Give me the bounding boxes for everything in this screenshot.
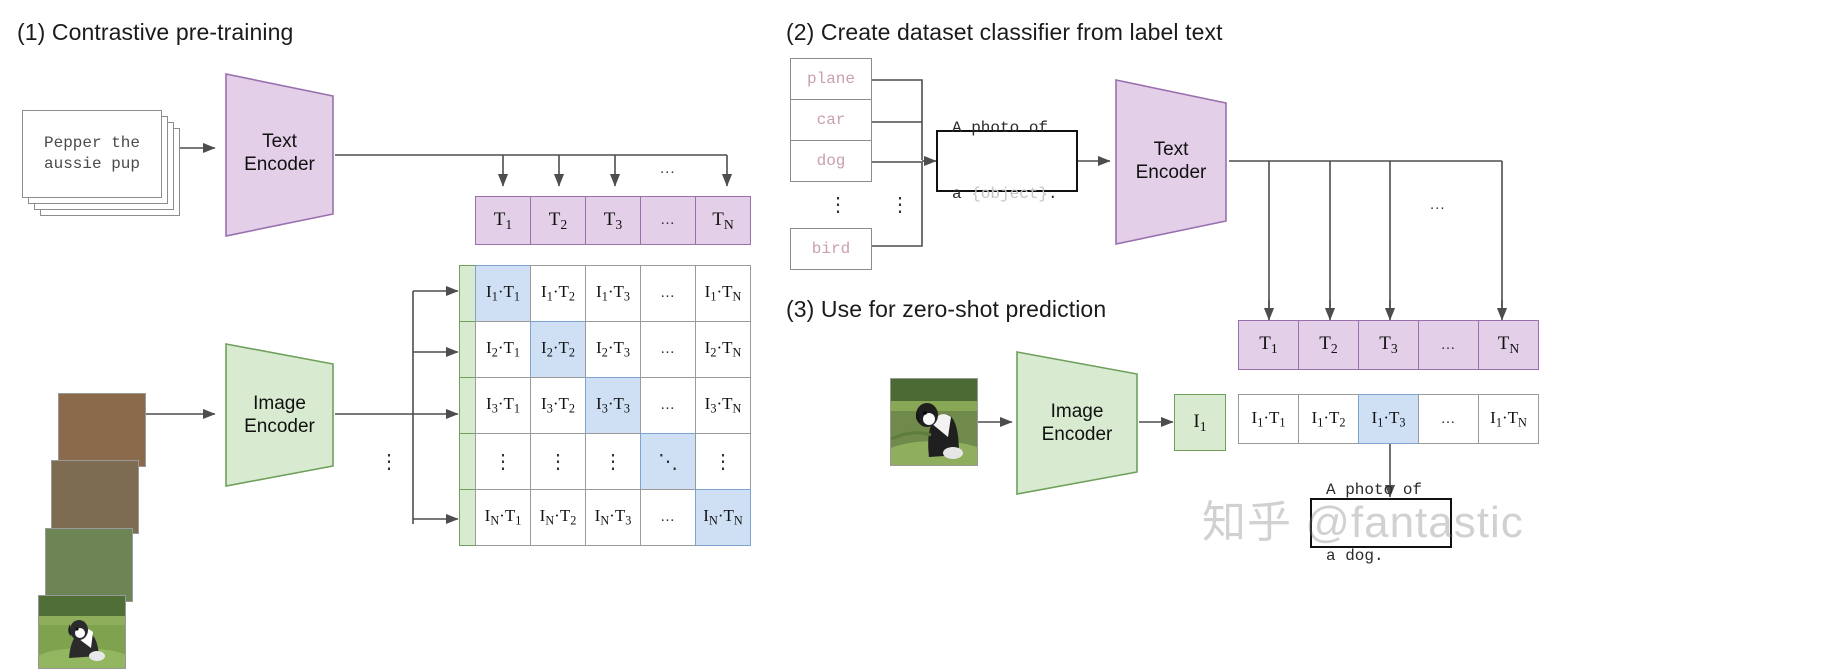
matrix-row: I3·T1 I3·T2 I3·T3 ... I3·TN: [475, 377, 751, 434]
label-vdots-right: ⋮: [890, 195, 910, 215]
matrix-cell: IN·T2: [530, 489, 586, 546]
image-embedding-p3: I1: [1174, 394, 1226, 451]
image-thumb-front: [38, 595, 126, 669]
text-embedding-cell: T3: [1358, 320, 1419, 370]
image-thumb-shadow-3: [58, 393, 146, 467]
label-box-dog[interactable]: dog: [790, 140, 872, 182]
text-embedding-cell: T1: [1238, 320, 1299, 370]
matrix-row: I2·T1 I2·T2 I2·T3 ... I2·TN: [475, 321, 751, 378]
matrix-cell: IN·T3: [585, 489, 641, 546]
t3-label: T3: [604, 209, 622, 233]
text-embedding-cell: T2: [530, 196, 586, 245]
text-embedding-cell: T2: [1298, 320, 1359, 370]
matrix-row: IN·T1 IN·T2 IN·T3 ... IN·TN: [475, 489, 751, 546]
image-encoder-p3[interactable]: Image Encoder: [1013, 348, 1141, 498]
answer-line1: A photo of: [1326, 479, 1422, 501]
text-encoder-p1[interactable]: Text Encoder: [222, 70, 337, 240]
panel-title-3: (3) Use for zero-shot prediction: [786, 296, 1106, 323]
image-encoder-p3-line1: Image: [1013, 400, 1141, 423]
matrix-cell: I1·T1: [475, 265, 531, 322]
matrix-cell: ⋮: [695, 433, 751, 490]
matrix-row: ⋮ ⋮ ⋮ ⋱ ⋮: [475, 433, 751, 490]
similarity-matrix-p1: I1·T1 I1·T2 I1·T3 ... I1·TN I2·T1 I2·T2 …: [475, 265, 751, 546]
matrix-cell: ⋮: [585, 433, 641, 490]
tdots-label: ...: [661, 212, 675, 229]
label-vdots-left: ⋮: [828, 195, 848, 215]
bus-vdots-p1: ⋮: [379, 452, 399, 472]
matrix-cell: I2·T2: [530, 321, 586, 378]
dog-photo-art: [39, 596, 126, 669]
t2-label: T2: [549, 209, 567, 233]
matrix-cell: I3·TN: [695, 377, 751, 434]
label-box-plane[interactable]: plane: [790, 58, 872, 100]
bus-ellipsis-p2: ...: [1430, 196, 1446, 213]
image-encoder-p1[interactable]: Image Encoder: [222, 340, 337, 490]
prediction-answer-box: A photo of a dog.: [1310, 498, 1452, 548]
text-encoder-p1-line1: Text: [222, 130, 337, 153]
matrix-cell: I1·T3: [585, 265, 641, 322]
text-embedding-row-p1: T1 T2 T3 ... TN: [475, 196, 751, 245]
matrix-cell: ⋮: [475, 433, 531, 490]
prompt-placeholder: {object}: [971, 185, 1048, 203]
text-encoder-p1-line2: Encoder: [222, 153, 337, 176]
text-card-line2: aussie pup: [44, 154, 140, 175]
text-encoder-p2[interactable]: Text Encoder: [1112, 76, 1230, 248]
matrix-cell: IN·TN: [695, 489, 751, 546]
score-cell: I1·T1: [1238, 394, 1299, 444]
answer-line2-pre: a: [1326, 547, 1345, 565]
label-box-car[interactable]: car: [790, 99, 872, 141]
text-card-front: Pepper the aussie pup: [22, 110, 162, 198]
bus-ellipsis-p1: ...: [660, 160, 676, 177]
matrix-cell: ...: [640, 377, 696, 434]
matrix-cell: I2·T3: [585, 321, 641, 378]
matrix-cell: ⋮: [530, 433, 586, 490]
prompt-line1: A photo of: [952, 117, 1058, 139]
image-encoder-p1-line1: Image: [222, 392, 337, 415]
matrix-row: I1·T1 I1·T2 I1·T3 ... I1·TN: [475, 265, 751, 322]
text-card-line1: Pepper the: [44, 133, 140, 154]
matrix-cell: ⋱: [640, 433, 696, 490]
matrix-cell: I1·TN: [695, 265, 751, 322]
dog-photo-art-p3: [891, 379, 978, 466]
answer-line2: a dog.: [1326, 545, 1422, 567]
prompt-line2-post: .: [1048, 185, 1058, 203]
matrix-cell: I2·T1: [475, 321, 531, 378]
tn-label: TN: [712, 209, 733, 233]
matrix-cell: ...: [640, 489, 696, 546]
panel-title-1: (1) Contrastive pre-training: [17, 19, 293, 46]
image-thumb-shadow-1: [45, 528, 133, 602]
text-embedding-cell: ...: [1418, 320, 1479, 370]
text-encoder-p2-line2: Encoder: [1112, 161, 1230, 184]
i1-label-p3: I1: [1193, 411, 1206, 435]
matrix-cell: I3·T1: [475, 377, 531, 434]
text-embedding-cell: TN: [695, 196, 751, 245]
matrix-cell: IN·T1: [475, 489, 531, 546]
text-embedding-cell: TN: [1478, 320, 1539, 370]
image-encoder-p3-line2: Encoder: [1013, 423, 1141, 446]
score-cell: ...: [1418, 394, 1479, 444]
matrix-cell: I3·T3: [585, 377, 641, 434]
matrix-cell: ...: [640, 265, 696, 322]
matrix-cell: I3·T2: [530, 377, 586, 434]
text-encoder-p2-line1: Text: [1112, 138, 1230, 161]
matrix-cell: I1·T2: [530, 265, 586, 322]
image-thumb-p3: [890, 378, 978, 466]
t1-label: T1: [494, 209, 512, 233]
text-embedding-cell: T1: [475, 196, 531, 245]
image-thumb-shadow-2: [51, 460, 139, 534]
image-encoder-p1-line2: Encoder: [222, 415, 337, 438]
text-embedding-cell: ...: [640, 196, 696, 245]
text-embedding-row-p3: T1 T2 T3 ... TN: [1238, 320, 1539, 370]
text-embedding-cell: T3: [585, 196, 641, 245]
answer-word: dog: [1345, 547, 1374, 565]
prompt-line2: a {object}.: [952, 183, 1058, 205]
matrix-cell: I2·TN: [695, 321, 751, 378]
panel-title-2: (2) Create dataset classifier from label…: [786, 19, 1223, 46]
image-stack-p1: [38, 373, 168, 478]
prompt-template-box[interactable]: A photo of a {object}.: [936, 130, 1078, 192]
prompt-line2-pre: a: [952, 185, 971, 203]
matrix-cell: ...: [640, 321, 696, 378]
answer-line2-post: .: [1374, 547, 1384, 565]
text-card-stack: Pepper the aussie pup: [22, 110, 192, 220]
label-box-bird[interactable]: bird: [790, 228, 872, 270]
clip-diagram: (1) Contrastive pre-training Pepper the …: [0, 0, 1832, 672]
score-cell: I1·TN: [1478, 394, 1539, 444]
